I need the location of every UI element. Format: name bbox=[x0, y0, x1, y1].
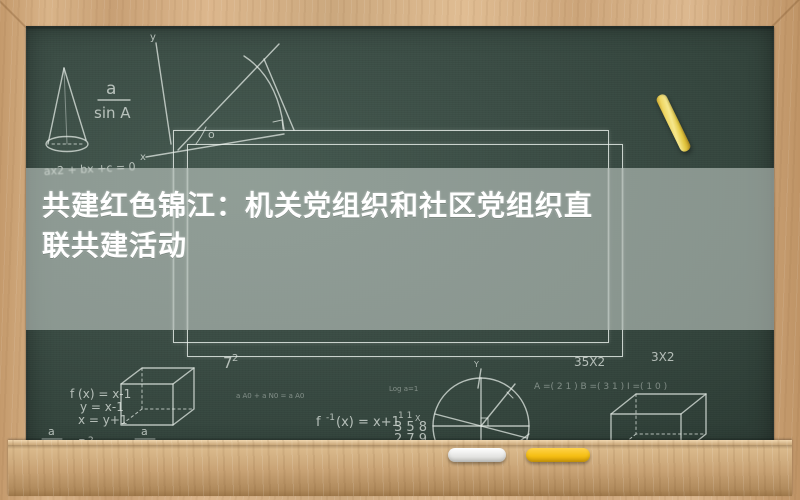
caption-line-1: 共建红色锦江：机关党组织和社区党组织直 bbox=[42, 189, 593, 222]
chalkboard-banner: a sin A ax2 + bx +c = 0 y x o bbox=[0, 0, 800, 500]
white-chalk-piece-icon bbox=[448, 448, 506, 462]
chalk-tray bbox=[8, 440, 792, 496]
tray-wood-grain bbox=[8, 440, 792, 496]
yellow-chalk-piece-icon bbox=[526, 448, 590, 462]
caption-line-2: 联共建活动 bbox=[42, 226, 800, 266]
page-title: 共建红色锦江：机关党组织和社区党组织直 联共建活动 bbox=[26, 186, 800, 266]
